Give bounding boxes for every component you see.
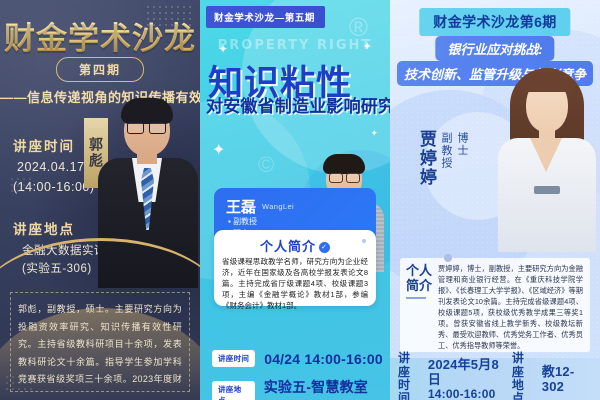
lecture-time-label: 讲座时间 [212,350,255,367]
lecture-place-label-line-2: 地点 [512,378,525,400]
sparkle-icon: ✦ [212,140,225,160]
poster-title-line-1: 银行业应对挑战: [435,36,554,61]
bio-label-line-2: 简介 [406,278,432,293]
speaker-name: 王磊 [226,196,256,217]
poster-salon-5[interactable]: ® © 财金学术沙龙—第五期 PROPERTY RIGHT 知识粘性 对安徽省制… [200,0,390,400]
lecture-place-row: 讲座地点 实验五-智慧教室207 [212,377,390,400]
sparkle-icon: ✦ [370,128,378,139]
lecture-time-label-line-1: 讲座 [398,351,411,378]
lecture-hours-value: (14:00-16:00) [13,180,95,194]
poster-issue-badge: 第四期 [56,57,144,82]
copyright-mark-icon: © [258,152,274,178]
ghost-heading: PROPERTY RIGHT [200,38,390,53]
glasses-icon [127,122,144,134]
lecture-room-value: 教12-302 [542,364,592,395]
dot-icon [444,254,452,262]
poster-ribbon: 财金学术沙龙—第五期 [206,6,325,28]
speaker-fringe [522,72,572,92]
lecture-hours-value: 14:00-16:00 [428,387,505,400]
poster-title: 财金学术沙龙 [0,13,200,58]
speaker-bio: 郭彪，副教授，硕士。主要研究方向为投融资效率研究、知识传播有效性研究。主持省级教… [10,292,190,392]
credential-item: ▪ 副教授 [228,216,257,227]
poster-subtitle: 对安徽省制造业影响研究 [206,92,390,117]
poster-salon-4[interactable]: 财金学术沙龙 第四期 ——信息传递视角的知识传播有效性 讲座时间 2024.04… [0,0,200,400]
speaker-hair [323,154,365,174]
speaker-bio: 贾婷婷，博士，副教授，主要研究方向为金融管理和商业银行经营。在《重庆科技学院学报… [438,264,583,347]
speaker-bio: 省级课程思政教学名师，研究方向为企业经济，近年在国家级及各高校学报发表论文8篇。… [222,257,368,311]
glasses-icon [329,173,343,183]
speaker-bio-card: 个人简介✓ 省级课程思政教学名师，研究方向为企业经济，近年在国家级及各高校学报发… [214,230,376,306]
credential-label: 副教授 [233,217,257,226]
lecture-place-label-line-1: 讲座 [512,351,525,378]
lecture-place-label: 讲座地点 [13,218,75,238]
lecture-place-label: 讲座地点 [212,381,255,400]
speaker-name: 贾婷婷 [414,130,439,187]
lecture-date-value: 2024年5月8日 [428,357,499,387]
speaker-title-primary: 副教授 [438,132,454,170]
lecture-time-label: 讲座 时间 [398,352,421,400]
speaker-photo [494,62,598,252]
speaker-title-secondary: 博士 [454,132,470,157]
poster-salon-6[interactable]: 财金学术沙龙第6期 银行业应对挑战: 技术创新、监管升级与新兴竞争 贾婷婷 副教… [390,0,600,400]
sparkle-icon: ✦ [218,42,228,56]
sparkle-icon: ✦ [363,40,372,53]
glasses-icon [346,173,360,183]
bio-label-line-1: 个人 [406,263,432,278]
lecture-time-row: 讲座时间 04/24 14:00-16:00 [212,350,383,367]
speaker-bio-card: 个人 简介 贾婷婷，博士，副教授，主要研究方向为金融管理和商业银行经营。在《重庆… [400,258,590,352]
jacket-logo [534,186,560,194]
poster-ribbon: 财金学术沙龙第6期 [419,8,570,36]
dot-icon [362,239,366,243]
lecture-place-value: 实验五-智慧教室207 [264,377,390,400]
poster-footer: 讲座 时间 2024年5月8日 14:00-16:00 讲座 地点 教12-30… [390,358,600,400]
bio-title: 个人简介✓ [222,236,368,255]
bio-label: 个人 简介 [406,264,432,347]
speaker-name-pinyin: WangLei [262,202,294,211]
bio-title-text: 个人简介 [260,239,316,254]
check-badge-icon: ✓ [319,242,330,253]
speaker-hair [121,98,173,124]
lecture-time-label-line-2: 时间 [398,378,411,400]
lecture-date-value: 2024.04.17 [17,160,85,174]
lecture-time-value: 04/24 14:00-16:00 [264,351,383,367]
lecture-time-label: 讲座时间 [13,135,75,155]
lecture-place-label: 讲座 地点 [512,352,535,400]
glasses-icon [149,122,166,134]
lecture-time-value: 2024年5月8日 14:00-16:00 [428,357,505,400]
bio-label-underline [406,297,426,299]
